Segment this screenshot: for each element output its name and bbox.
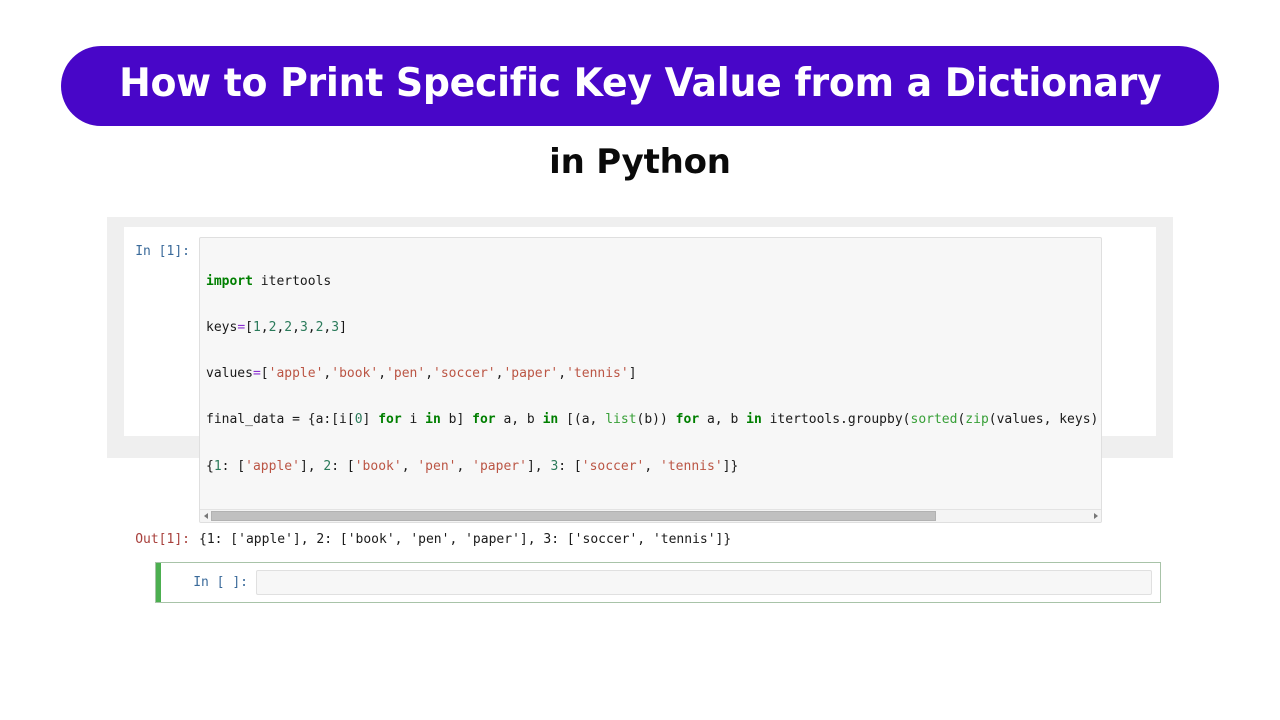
output-text: {1: ['apple'], 2: ['book', 'pen', 'paper… xyxy=(199,532,1156,547)
notebook-output-cell: Out[1]: {1: ['apple'], 2: ['book', 'pen'… xyxy=(124,523,1156,547)
scroll-right-arrow-icon[interactable] xyxy=(1090,510,1101,522)
notebook-panel: In [1]: import itertools keys=[1,2,2,3,2… xyxy=(124,227,1156,436)
code-line-5: {1: ['apple'], 2: ['book', 'pen', 'paper… xyxy=(206,459,1095,474)
output-prompt-label: Out[1]: xyxy=(124,532,199,547)
title-banner: How to Print Specific Key Value from a D… xyxy=(61,46,1220,126)
code-line-1: import itertools xyxy=(206,274,1095,289)
notebook-input-cell[interactable]: In [1]: import itertools keys=[1,2,2,3,2… xyxy=(124,227,1156,523)
scroll-left-arrow-icon[interactable] xyxy=(200,510,211,522)
page-subtitle: in Python xyxy=(0,142,1280,182)
code-lines[interactable]: import itertools keys=[1,2,2,3,2,3] valu… xyxy=(200,243,1101,506)
notebook-empty-cell[interactable]: In [ ]: xyxy=(155,562,1161,603)
triangle-left-icon xyxy=(204,513,208,519)
empty-cell-row[interactable]: In [ ]: xyxy=(156,563,1160,602)
triangle-right-icon xyxy=(1094,513,1098,519)
page-title: How to Print Specific Key Value from a D… xyxy=(119,60,1161,108)
notebook-outer-frame: In [1]: import itertools keys=[1,2,2,3,2… xyxy=(107,217,1173,458)
input-prompt-label: In [1]: xyxy=(124,237,199,259)
code-editor-area[interactable]: import itertools keys=[1,2,2,3,2,3] valu… xyxy=(199,237,1102,523)
code-line-4: final_data = {a:[i[0] for i in b] for a,… xyxy=(206,412,1095,427)
code-line-2: keys=[1,2,2,3,2,3] xyxy=(206,320,1095,335)
cell-selected-indicator xyxy=(156,563,161,602)
code-horizontal-scrollbar[interactable] xyxy=(200,509,1101,522)
empty-cell-prompt-label: In [ ]: xyxy=(156,575,256,590)
title-block: How to Print Specific Key Value from a D… xyxy=(0,0,1280,182)
screen-root: How to Print Specific Key Value from a D… xyxy=(0,0,1280,720)
scrollbar-thumb[interactable] xyxy=(211,511,936,521)
scrollbar-track[interactable] xyxy=(211,511,1090,521)
code-line-3: values=['apple','book','pen','soccer','p… xyxy=(206,366,1095,381)
empty-code-input[interactable] xyxy=(256,570,1152,595)
